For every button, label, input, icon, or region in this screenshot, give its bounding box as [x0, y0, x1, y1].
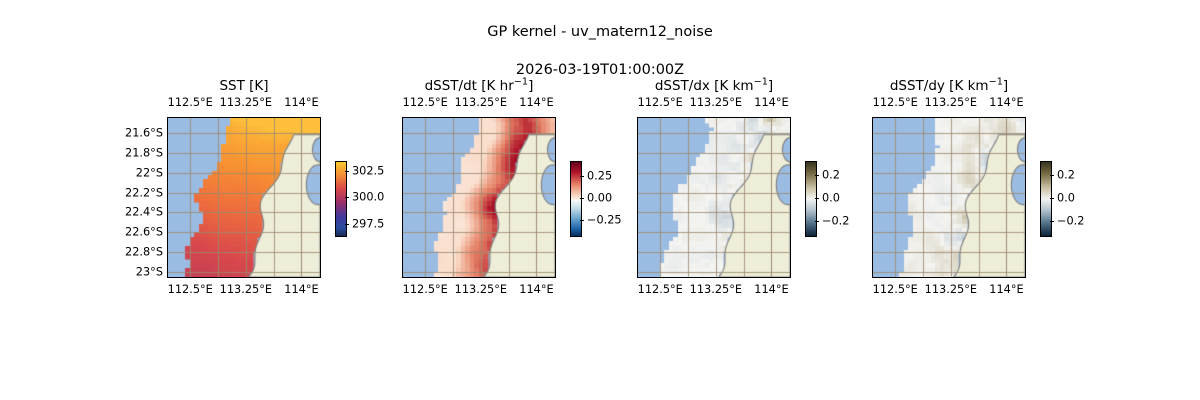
- map-dsst_dt: [402, 117, 556, 278]
- panel-dsst_dy: dSST/dy [K km−1]112.5°E113.25°E114°E112.…: [873, 118, 1025, 277]
- colorbar-tick-label: 302.5: [352, 164, 384, 177]
- x-tick-label: 113.25°E: [925, 96, 977, 109]
- colorbar-tick-mark: [815, 198, 819, 199]
- x-tick-label: 112.5°E: [403, 96, 448, 109]
- y-tick-label: 22°S: [136, 166, 163, 179]
- x-axis-labels-bottom-dsst_dt: 112.5°E113.25°E114°E: [403, 283, 555, 299]
- panel-title-dsst_dy: dSST/dy [K km−1]: [873, 78, 1025, 94]
- y-tick-label: 23°S: [136, 266, 163, 279]
- panel-dsst_dx: dSST/dx [K km−1]112.5°E113.25°E114°E112.…: [638, 118, 790, 277]
- x-tick-label: 113.25°E: [925, 283, 977, 296]
- colorbar-sst: 302.5300.0297.5: [335, 161, 345, 235]
- map-dsst_dx: [637, 117, 791, 278]
- x-tick-label: 114°E: [989, 96, 1023, 109]
- x-axis-labels-top-dsst_dt: 112.5°E113.25°E114°E: [403, 96, 555, 112]
- panel-title-sst: SST [K]: [168, 78, 320, 94]
- colorbar-tick-label: 0.00: [587, 192, 612, 205]
- colorbar-gradient-dsst_dx: [805, 161, 817, 237]
- x-tick-label: 113.25°E: [220, 96, 272, 109]
- x-axis-labels-top-dsst_dy: 112.5°E113.25°E114°E: [873, 96, 1025, 112]
- panel-sst: SST [K]112.5°E113.25°E114°E112.5°E113.25…: [168, 118, 320, 277]
- x-tick-label: 114°E: [284, 96, 318, 109]
- colorbar-tick-mark: [345, 171, 349, 172]
- x-axis-labels-bottom-sst: 112.5°E113.25°E114°E: [168, 283, 320, 299]
- x-tick-label: 113.25°E: [455, 96, 507, 109]
- colorbar-gradient-sst: [335, 161, 347, 237]
- x-tick-label: 113.25°E: [690, 96, 742, 109]
- colorbar-dsst_dy: 0.20.0−0.2: [1040, 161, 1050, 235]
- x-tick-label: 112.5°E: [873, 96, 918, 109]
- panel-title-dsst_dt: dSST/dt [K hr−1]: [403, 78, 555, 94]
- x-tick-label: 114°E: [754, 96, 788, 109]
- colorbar-tick-label: 0.2: [822, 168, 840, 181]
- y-tick-label: 21.6°S: [125, 126, 163, 139]
- panel-title-dsst_dx: dSST/dx [K km−1]: [638, 78, 790, 94]
- map-dsst_dy: [872, 117, 1026, 278]
- colorbar-tick-label: 0.0: [1057, 192, 1075, 205]
- x-axis-labels-bottom-dsst_dy: 112.5°E113.25°E114°E: [873, 283, 1025, 299]
- x-axis-labels-top-sst: 112.5°E113.25°E114°E: [168, 96, 320, 112]
- y-tick-label: 22.8°S: [125, 246, 163, 259]
- map-sst: [167, 117, 321, 278]
- x-tick-label: 112.5°E: [638, 283, 683, 296]
- colorbar-tick-label: 0.0: [822, 192, 840, 205]
- y-tick-label: 22.6°S: [125, 226, 163, 239]
- x-axis-labels-bottom-dsst_dx: 112.5°E113.25°E114°E: [638, 283, 790, 299]
- x-tick-label: 112.5°E: [168, 283, 213, 296]
- colorbar-tick-mark: [1050, 175, 1054, 176]
- colorbar-tick-label: −0.25: [587, 214, 622, 227]
- x-tick-label: 114°E: [989, 283, 1023, 296]
- colorbar-tick-label: −0.2: [1057, 215, 1084, 228]
- colorbar-gradient-dsst_dt: [570, 161, 582, 237]
- colorbar-tick-label: −0.2: [822, 215, 849, 228]
- colorbar-tick-label: 0.25: [587, 169, 612, 182]
- panel-dsst_dt: dSST/dt [K hr−1]112.5°E113.25°E114°E112.…: [403, 118, 555, 277]
- suptitle-line-2: 2026-03-19T01:00:00Z: [516, 62, 684, 78]
- colorbar-tick-mark: [345, 224, 349, 225]
- x-tick-label: 112.5°E: [403, 283, 448, 296]
- colorbar-tick-label: 0.2: [1057, 168, 1075, 181]
- colorbar-tick-mark: [1050, 198, 1054, 199]
- colorbar-tick-label: 297.5: [352, 218, 384, 231]
- x-tick-label: 114°E: [284, 283, 318, 296]
- x-axis-labels-top-dsst_dx: 112.5°E113.25°E114°E: [638, 96, 790, 112]
- colorbar-tick-mark: [345, 197, 349, 198]
- colorbar-dsst_dt: 0.250.00−0.25: [570, 161, 580, 235]
- figure-canvas: GP kernel - uv_matern12_noise 2026-03-19…: [0, 0, 1200, 400]
- x-tick-label: 114°E: [519, 283, 553, 296]
- x-tick-label: 112.5°E: [873, 283, 918, 296]
- colorbar-tick-mark: [815, 175, 819, 176]
- y-tick-label: 21.8°S: [125, 146, 163, 159]
- colorbar-tick-mark: [580, 220, 584, 221]
- x-tick-label: 113.25°E: [455, 283, 507, 296]
- y-tick-label: 22.2°S: [125, 186, 163, 199]
- x-tick-label: 114°E: [519, 96, 553, 109]
- colorbar-tick-mark: [580, 176, 584, 177]
- suptitle-line-1: GP kernel - uv_matern12_noise: [487, 24, 713, 40]
- x-tick-label: 114°E: [754, 283, 788, 296]
- colorbar-dsst_dx: 0.20.0−0.2: [805, 161, 815, 235]
- x-tick-label: 112.5°E: [168, 96, 213, 109]
- colorbar-tick-mark: [580, 198, 584, 199]
- x-tick-label: 112.5°E: [638, 96, 683, 109]
- colorbar-gradient-dsst_dy: [1040, 161, 1052, 237]
- figure-suptitle: GP kernel - uv_matern12_noise 2026-03-19…: [0, 4, 1200, 80]
- x-tick-label: 113.25°E: [690, 283, 742, 296]
- colorbar-tick-label: 300.0: [352, 191, 384, 204]
- colorbar-tick-mark: [815, 221, 819, 222]
- y-tick-label: 22.4°S: [125, 206, 163, 219]
- colorbar-tick-mark: [1050, 221, 1054, 222]
- x-tick-label: 113.25°E: [220, 283, 272, 296]
